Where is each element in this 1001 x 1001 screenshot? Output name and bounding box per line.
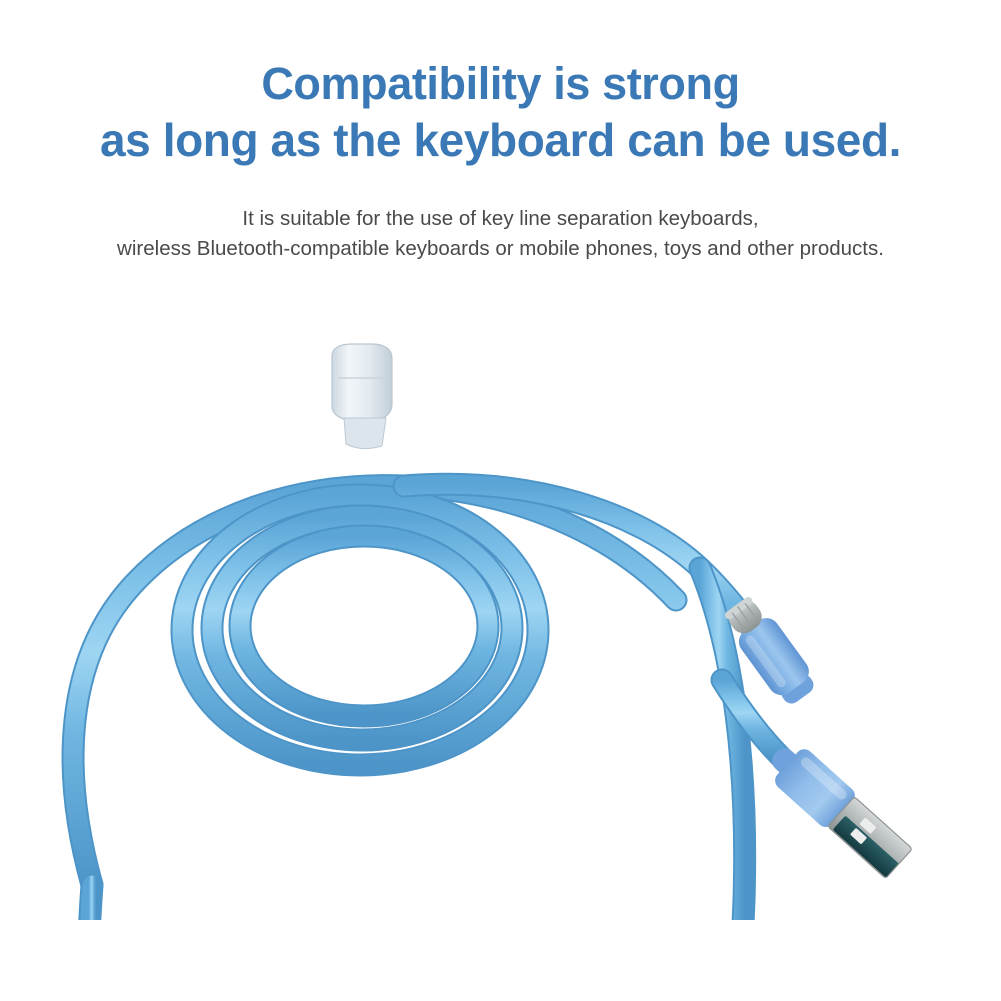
usb-a-connector [760, 735, 915, 882]
headline-line-1: Compatibility is strong [0, 56, 1001, 112]
subcopy-line-1: It is suitable for the use of key line s… [0, 204, 1001, 234]
coiled-usb-cable-illustration [0, 300, 1001, 920]
product-photo [0, 300, 1001, 920]
velcro-tie [332, 344, 392, 449]
cable-left-drop [89, 885, 96, 920]
product-banner: Compatibility is strong as long as the k… [0, 0, 1001, 1001]
page-subtitle: It is suitable for the use of key line s… [0, 204, 1001, 264]
subcopy-line-2: wireless Bluetooth-compatible keyboards … [0, 234, 1001, 264]
headline-line-2: as long as the keyboard can be used. [0, 112, 1001, 168]
cable-loop [73, 484, 788, 885]
page-title: Compatibility is strong as long as the k… [0, 56, 1001, 168]
